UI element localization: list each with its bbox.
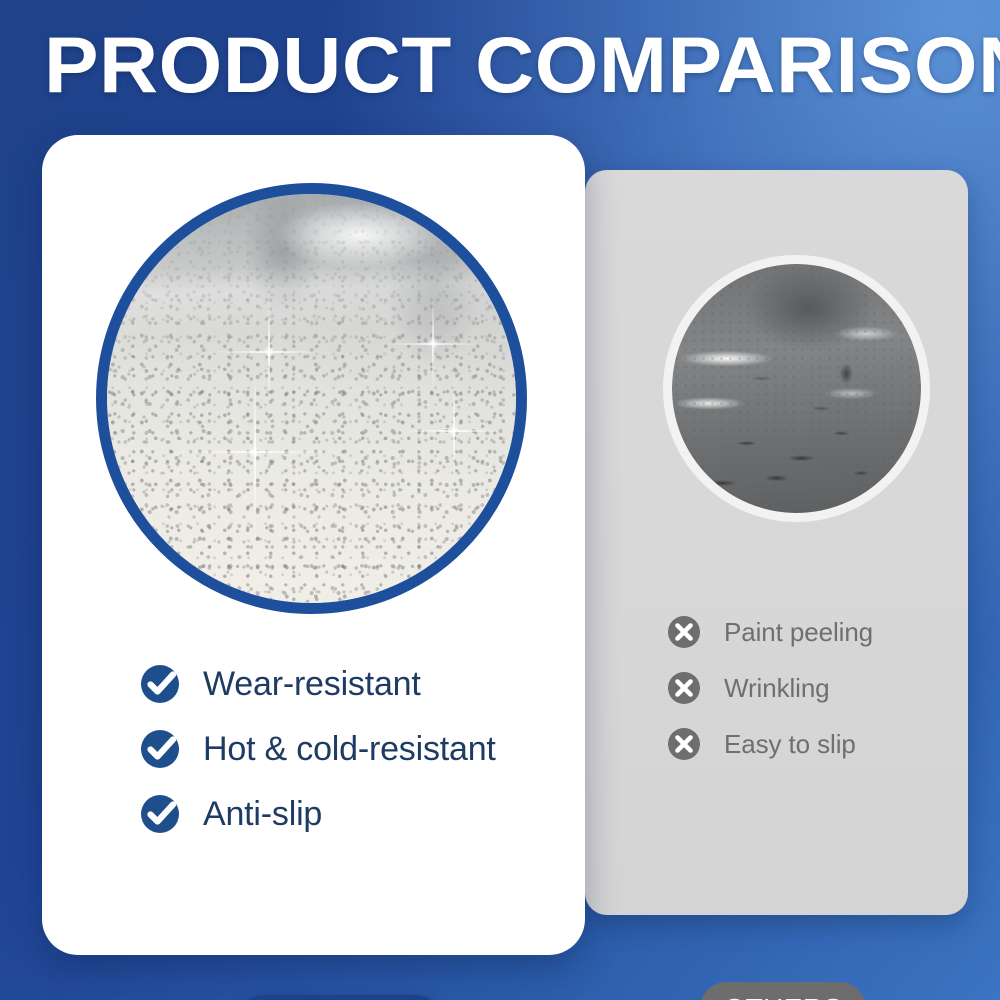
ours-floor-photo [96,183,527,614]
ours-photo-surface [107,194,516,603]
check-circle-icon [138,662,182,706]
others-photo-damage-texture [672,264,921,513]
ours-features-list: Wear-resistant Hot & cold-resistant [138,653,568,848]
list-item-label: Easy to slip [724,728,856,760]
x-circle-icon [666,670,702,706]
others-panel: Paint peeling Wrinkling [585,170,968,915]
x-circle-icon [666,614,702,650]
list-item: Paint peeling [666,604,956,660]
list-item: Hot & cold-resistant [138,718,568,780]
list-item: Wear-resistant [138,653,568,715]
ours-badge: OURS [236,995,444,1000]
list-item-label: Wrinkling [724,672,830,704]
page-title: PRODUCT COMPARISON [44,22,996,108]
list-item: Anti-slip [138,783,568,845]
x-circle-icon [666,726,702,762]
list-item: Wrinkling [666,660,956,716]
others-floor-photo [663,255,930,522]
list-item-label: Wear-resistant [203,664,421,704]
list-item-label: Hot & cold-resistant [203,729,496,769]
ours-photo-speckle-texture [107,194,516,603]
check-circle-icon [138,792,182,836]
list-item: Easy to slip [666,716,956,772]
infographic-canvas: PRODUCT COMPARISON Paint peeling [0,0,1000,1000]
list-item-label: Anti-slip [203,794,322,834]
check-circle-icon [138,727,182,771]
others-cons-list: Paint peeling Wrinkling [666,604,956,772]
ours-card: Wear-resistant Hot & cold-resistant [42,135,585,955]
others-badge: OTHERS [700,982,866,1000]
list-item-label: Paint peeling [724,616,873,648]
